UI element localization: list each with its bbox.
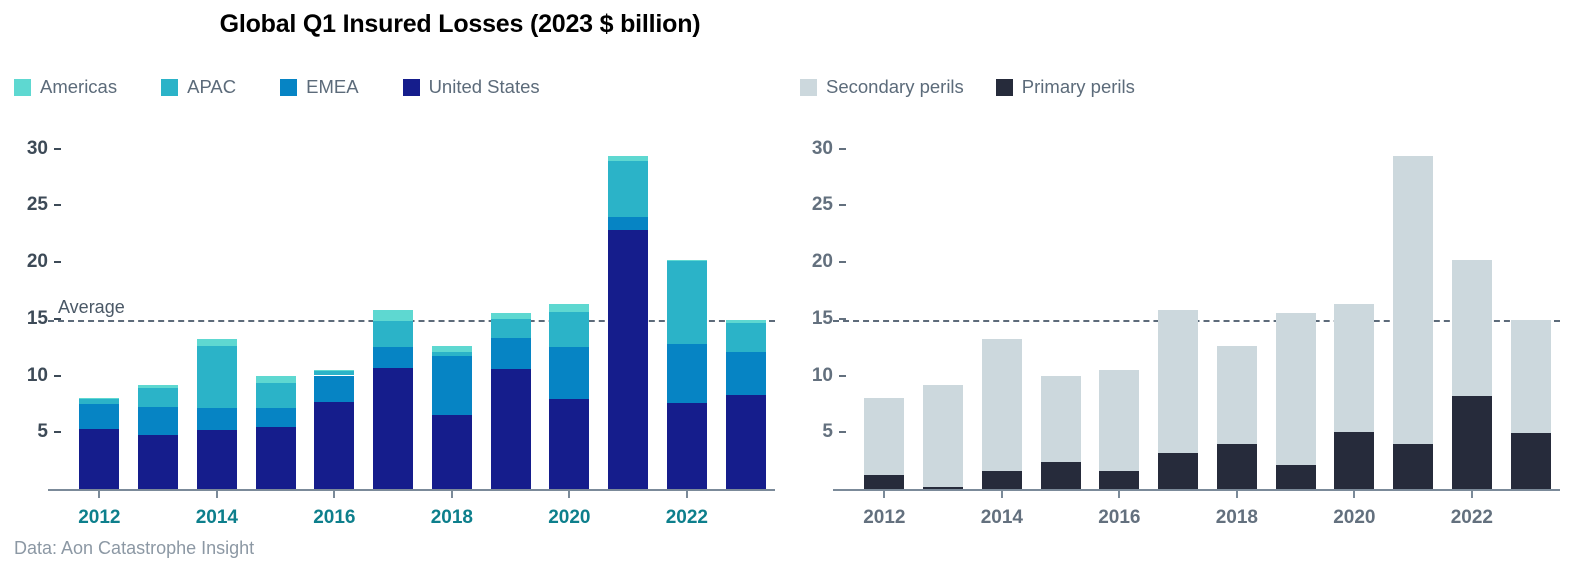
bar-segment: [667, 260, 707, 261]
bar-2019[interactable]: [491, 125, 531, 489]
bar-segment: [982, 471, 1022, 489]
bar-segment: [138, 385, 178, 388]
x-axis-baseline: [833, 489, 1560, 491]
bar-segment: [491, 369, 531, 489]
bar-segment: [549, 399, 589, 489]
x-axis-tick-label: 2016: [313, 507, 355, 529]
bar-segment: [1099, 370, 1139, 471]
y-axis-tick-label: 5: [822, 421, 833, 443]
bar-2019[interactable]: [1276, 125, 1316, 489]
x-axis-tick-mark: [883, 491, 885, 498]
bar-segment: [432, 356, 472, 415]
x-axis-tick-label: 2020: [1333, 507, 1375, 529]
chart-panel-regions: 51015202530Average2012201420162018202020…: [0, 0, 795, 580]
y-axis-tick-mark: [54, 204, 61, 206]
plot-area-regions: 51015202530Average2012201420162018202020…: [70, 125, 775, 489]
bar-2015[interactable]: [1041, 125, 1081, 489]
bar-2022[interactable]: [1452, 125, 1492, 489]
bar-segment: [1276, 313, 1316, 465]
bar-segment: [197, 346, 237, 408]
bar-segment: [197, 430, 237, 489]
x-axis-tick-label: 2018: [1216, 507, 1258, 529]
x-axis-tick-mark: [1236, 491, 1238, 498]
bar-segment: [1217, 346, 1257, 444]
y-axis-tick-label: 25: [27, 194, 48, 216]
bar-segment: [79, 398, 119, 399]
chart-panel-perils: 51015202530201220142016201820202022: [795, 0, 1586, 580]
bar-segment: [197, 339, 237, 346]
x-axis-tick-label: 2012: [78, 507, 120, 529]
bar-segment: [549, 304, 589, 312]
y-axis-tick-label: 5: [37, 421, 48, 443]
bar-segment: [256, 383, 296, 408]
y-axis-tick-mark: [839, 148, 846, 150]
y-axis-tick-mark: [839, 261, 846, 263]
bar-2021[interactable]: [608, 125, 648, 489]
bar-segment: [1393, 156, 1433, 443]
bar-segment: [982, 339, 1022, 471]
y-axis-tick-mark: [54, 431, 61, 433]
bar-segment: [726, 352, 766, 395]
bar-segment: [491, 319, 531, 338]
bar-segment: [432, 415, 472, 489]
source-note: Data: Aon Catastrophe Insight: [14, 538, 254, 559]
bar-segment: [373, 310, 413, 321]
bar-segment: [138, 388, 178, 407]
bar-segment: [138, 435, 178, 489]
bar-segment: [726, 323, 766, 351]
bar-segment: [923, 487, 963, 489]
y-axis-tick-label: 25: [812, 194, 833, 216]
bar-segment: [549, 312, 589, 347]
y-axis-tick-mark: [839, 375, 846, 377]
bar-2014[interactable]: [982, 125, 1022, 489]
bar-2023[interactable]: [726, 125, 766, 489]
bar-2012[interactable]: [79, 125, 119, 489]
bar-segment: [314, 376, 354, 402]
bar-segment: [79, 429, 119, 489]
bar-segment: [432, 346, 472, 352]
x-axis-tick-label: 2022: [1451, 507, 1493, 529]
x-axis-tick-label: 2022: [666, 507, 708, 529]
y-axis-tick-mark: [54, 261, 61, 263]
bar-2022[interactable]: [667, 125, 707, 489]
bar-segment: [491, 313, 531, 319]
bar-segment: [373, 368, 413, 489]
bar-2015[interactable]: [256, 125, 296, 489]
bar-2020[interactable]: [1334, 125, 1374, 489]
bar-segment: [491, 338, 531, 369]
bar-2014[interactable]: [197, 125, 237, 489]
bar-segment: [608, 161, 648, 217]
y-axis-tick-label: 20: [27, 251, 48, 273]
bar-segment: [667, 403, 707, 489]
bar-segment: [923, 385, 963, 487]
bar-segment: [314, 371, 354, 376]
bar-segment: [314, 402, 354, 489]
bar-segment: [1452, 260, 1492, 396]
bar-segment: [1217, 444, 1257, 489]
bar-segment: [197, 408, 237, 430]
x-axis-tick-label: 2014: [196, 507, 238, 529]
bar-segment: [1452, 396, 1492, 489]
bar-2021[interactable]: [1393, 125, 1433, 489]
x-axis-baseline: [48, 489, 775, 491]
y-axis-tick-label: 30: [27, 138, 48, 160]
bar-2013[interactable]: [138, 125, 178, 489]
x-axis-tick-mark: [1118, 491, 1120, 498]
y-axis-tick-mark: [839, 204, 846, 206]
bar-segment: [608, 230, 648, 489]
y-axis-tick-label: 15: [27, 308, 48, 330]
bar-segment: [667, 344, 707, 403]
x-axis-tick-mark: [686, 491, 688, 498]
bar-segment: [608, 217, 648, 231]
x-axis-tick-mark: [451, 491, 453, 498]
bar-segment: [608, 156, 648, 161]
bar-segment: [432, 352, 472, 357]
x-axis-tick-mark: [1001, 491, 1003, 498]
bar-segment: [864, 398, 904, 475]
x-axis-tick-mark: [333, 491, 335, 498]
x-axis-tick-mark: [1471, 491, 1473, 498]
bar-segment: [726, 395, 766, 489]
y-axis-tick-label: 15: [812, 308, 833, 330]
bar-segment: [1334, 304, 1374, 432]
plot-area-perils: 51015202530201220142016201820202022: [855, 125, 1560, 489]
bar-segment: [256, 427, 296, 489]
bar-segment: [1158, 453, 1198, 489]
bar-2012[interactable]: [864, 125, 904, 489]
bar-2023[interactable]: [1511, 125, 1551, 489]
x-axis-tick-mark: [568, 491, 570, 498]
y-axis-tick-label: 10: [27, 365, 48, 387]
bar-segment: [1276, 465, 1316, 489]
bar-2016[interactable]: [1099, 125, 1139, 489]
bar-segment: [864, 475, 904, 489]
bar-segment: [549, 347, 589, 399]
x-axis-tick-mark: [216, 491, 218, 498]
bar-2018[interactable]: [432, 125, 472, 489]
bar-segment: [256, 376, 296, 384]
bar-segment: [1041, 376, 1081, 462]
bar-segment: [373, 321, 413, 347]
x-axis-tick-label: 2014: [981, 507, 1023, 529]
bar-2017[interactable]: [1158, 125, 1198, 489]
x-axis-tick-mark: [98, 491, 100, 498]
x-axis-tick-label: 2012: [863, 507, 905, 529]
bar-segment: [1511, 433, 1551, 489]
y-axis-tick-label: 10: [812, 365, 833, 387]
bar-2018[interactable]: [1217, 125, 1257, 489]
bar-segment: [726, 320, 766, 323]
x-axis-tick-label: 2020: [548, 507, 590, 529]
x-axis-tick-label: 2016: [1098, 507, 1140, 529]
bar-segment: [256, 408, 296, 426]
bar-segment: [373, 347, 413, 367]
x-axis-tick-label: 2018: [431, 507, 473, 529]
bar-segment: [667, 261, 707, 344]
bar-2017[interactable]: [373, 125, 413, 489]
bar-2020[interactable]: [549, 125, 589, 489]
y-axis-tick-label: 20: [812, 251, 833, 273]
y-axis-tick-mark: [54, 148, 61, 150]
y-axis-tick-mark: [839, 431, 846, 433]
bar-segment: [138, 407, 178, 434]
y-axis-tick-label: 30: [812, 138, 833, 160]
bar-segment: [1334, 432, 1374, 489]
chart-page: Global Q1 Insured Losses (2023 $ billion…: [0, 0, 1586, 580]
bar-segment: [314, 370, 354, 371]
bar-2013[interactable]: [923, 125, 963, 489]
x-axis-tick-mark: [1353, 491, 1355, 498]
y-axis-tick-mark: [54, 375, 61, 377]
bar-segment: [79, 404, 119, 429]
bar-segment: [1393, 444, 1433, 489]
bar-segment: [1099, 471, 1139, 489]
bar-segment: [1041, 462, 1081, 489]
bar-segment: [79, 399, 119, 404]
bar-segment: [1158, 310, 1198, 453]
bar-segment: [1511, 320, 1551, 434]
bar-2016[interactable]: [314, 125, 354, 489]
